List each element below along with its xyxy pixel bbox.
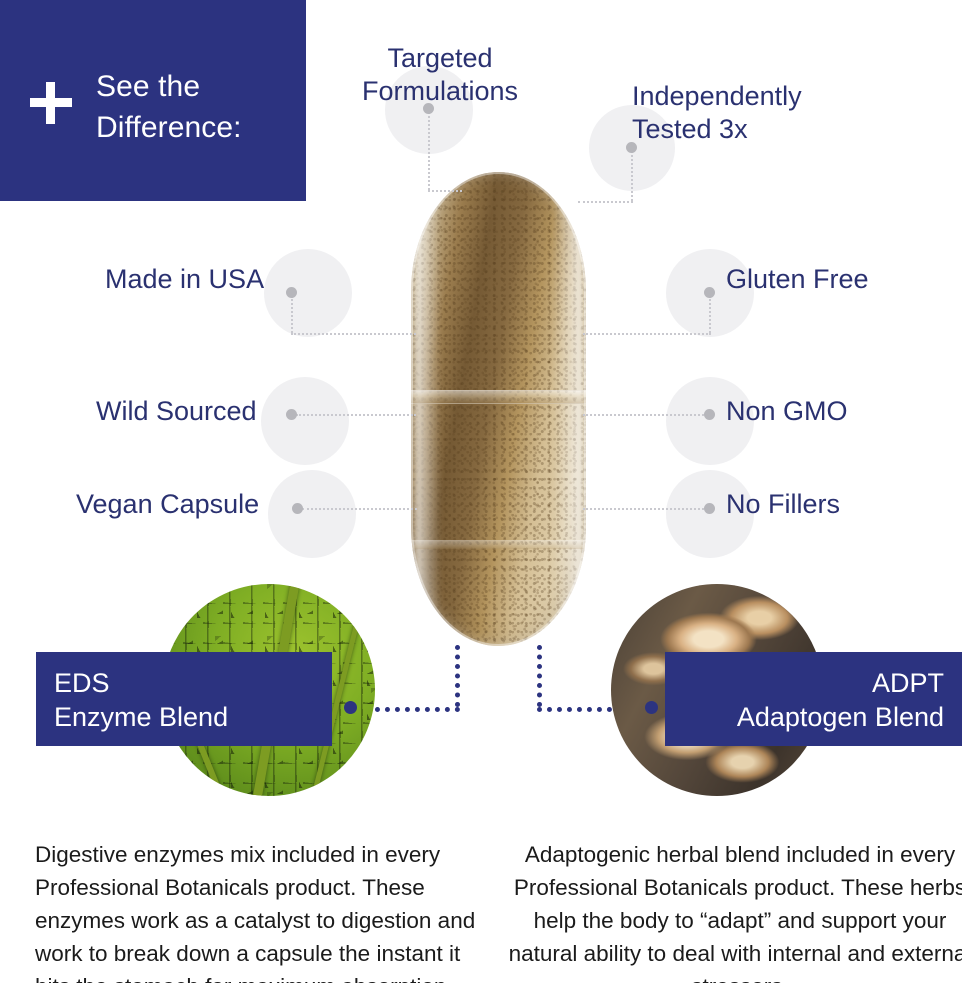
eds-blend-description: Digestive enzymes mix included in every … xyxy=(35,838,495,983)
leader-made-in-usa-vertical xyxy=(291,296,293,333)
adpt-blend-description: Adaptogenic herbal blend included in eve… xyxy=(505,838,962,983)
halo-wild-sourced xyxy=(261,377,349,465)
leader-adpt-blend-vertical xyxy=(537,645,542,707)
capsule-product-image xyxy=(411,172,586,646)
feature-targeted-formulations-line2: Formulations xyxy=(362,76,518,106)
leader-gluten-free-horizontal xyxy=(583,333,711,335)
infographic-page: See the Difference: xyxy=(0,0,962,983)
feature-label-targeted-formulations: Targeted Formulations xyxy=(340,42,540,108)
feature-targeted-formulations-line1: Targeted xyxy=(387,43,492,73)
leader-made-in-usa-horizontal xyxy=(291,333,416,335)
dot-no-fillers xyxy=(704,503,715,514)
leader-no-fillers-horizontal xyxy=(583,508,711,510)
leader-targeted-formulations-horizontal xyxy=(428,190,462,192)
eds-blend-name: Enzyme Blend xyxy=(54,700,332,734)
plus-icon xyxy=(30,82,72,124)
dot-made-in-usa xyxy=(286,287,297,298)
dot-eds-blend xyxy=(344,701,357,714)
leader-wild-sourced-horizontal xyxy=(296,414,416,416)
feature-label-non-gmo: Non GMO xyxy=(726,395,848,428)
feature-independently-tested-line1: Independently xyxy=(632,81,802,111)
feature-label-gluten-free: Gluten Free xyxy=(726,263,869,296)
leader-targeted-formulations-vertical xyxy=(428,112,430,190)
leader-gluten-free-vertical xyxy=(709,296,711,333)
feature-label-independently-tested-3x: Independently Tested 3x xyxy=(632,80,842,146)
dot-gluten-free xyxy=(704,287,715,298)
leader-independently-tested-horizontal xyxy=(578,201,633,203)
see-the-difference-header: See the Difference: xyxy=(0,0,306,201)
feature-independently-tested-line2: Tested 3x xyxy=(632,114,748,144)
halo-vegan-capsule xyxy=(268,470,356,558)
adpt-blend-name: Adaptogen Blend xyxy=(665,700,944,734)
dot-vegan-capsule xyxy=(292,503,303,514)
page-title-line2: Difference: xyxy=(96,107,296,148)
eds-blend-label: EDS Enzyme Blend xyxy=(36,652,332,746)
feature-label-no-fillers: No Fillers xyxy=(726,488,840,521)
page-title-line1: See the xyxy=(96,70,200,103)
eds-blend-code: EDS xyxy=(54,666,332,700)
leader-non-gmo-horizontal xyxy=(583,414,711,416)
feature-label-made-in-usa: Made in USA xyxy=(105,263,264,296)
feature-label-wild-sourced: Wild Sourced xyxy=(96,395,257,428)
adpt-blend-label: ADPT Adaptogen Blend xyxy=(665,652,962,746)
adpt-blend-code: ADPT xyxy=(665,666,944,700)
dot-non-gmo xyxy=(704,409,715,420)
leader-independently-tested-vertical xyxy=(631,151,633,201)
dot-adpt-blend xyxy=(645,701,658,714)
leader-vegan-capsule-horizontal xyxy=(302,508,417,510)
halo-made-in-usa xyxy=(264,249,352,337)
page-title: See the Difference: xyxy=(96,66,296,148)
feature-label-vegan-capsule: Vegan Capsule xyxy=(76,488,259,521)
capsule-shell-rim xyxy=(411,172,586,646)
leader-eds-blend-vertical xyxy=(455,645,460,707)
dot-wild-sourced xyxy=(286,409,297,420)
